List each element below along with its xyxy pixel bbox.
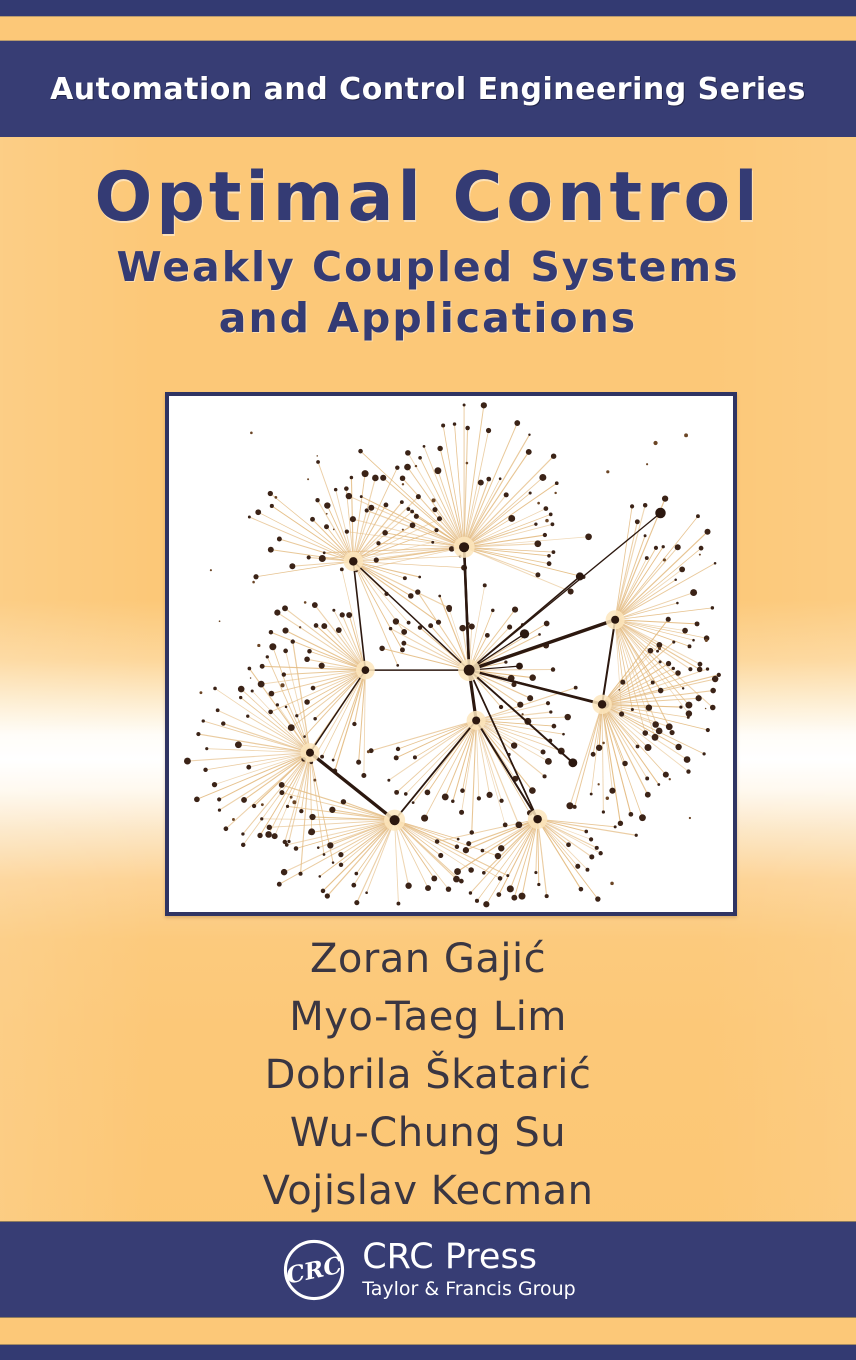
publisher-banner: CRC CRC Press Taylor & Francis Group <box>0 1221 856 1318</box>
top-navy-cap <box>0 0 856 16</box>
author-list: Zoran Gajić Myo-Taeg Lim Dobrila Škatari… <box>0 930 856 1220</box>
subtitle-block: Weakly Coupled Systems and Applications <box>0 242 856 344</box>
series-banner: Automation and Control Engineering Serie… <box>0 41 856 137</box>
publisher-imprint: Taylor & Francis Group <box>362 1280 576 1299</box>
network-graph-icon <box>169 396 733 912</box>
author-name: Zoran Gajić <box>0 930 856 988</box>
author-name: Wu-Chung Su <box>0 1104 856 1162</box>
top-amber-stripe <box>0 16 856 41</box>
cover-artwork-frame <box>165 392 737 916</box>
book-cover: Automation and Control Engineering Serie… <box>0 0 856 1360</box>
author-name: Dobrila Škatarić <box>0 1046 856 1104</box>
subtitle-line-1: Weakly Coupled Systems <box>0 242 856 293</box>
publisher-name: CRC Press <box>362 1240 537 1275</box>
author-name: Myo-Taeg Lim <box>0 988 856 1046</box>
bottom-navy-cap <box>0 1345 856 1360</box>
title-block: Optimal Control Weakly Coupled Systems a… <box>0 160 856 344</box>
subtitle-line-2: and Applications <box>0 293 856 344</box>
series-title: Automation and Control Engineering Serie… <box>50 72 806 107</box>
svg-text:CRC: CRC <box>284 1251 345 1289</box>
crc-logo-icon: CRC <box>280 1236 348 1304</box>
bottom-amber-stripe <box>0 1318 856 1345</box>
publisher-text: CRC Press Taylor & Francis Group <box>362 1240 576 1299</box>
page-title: Optimal Control <box>0 160 856 236</box>
author-name: Vojislav Kecman <box>0 1162 856 1220</box>
